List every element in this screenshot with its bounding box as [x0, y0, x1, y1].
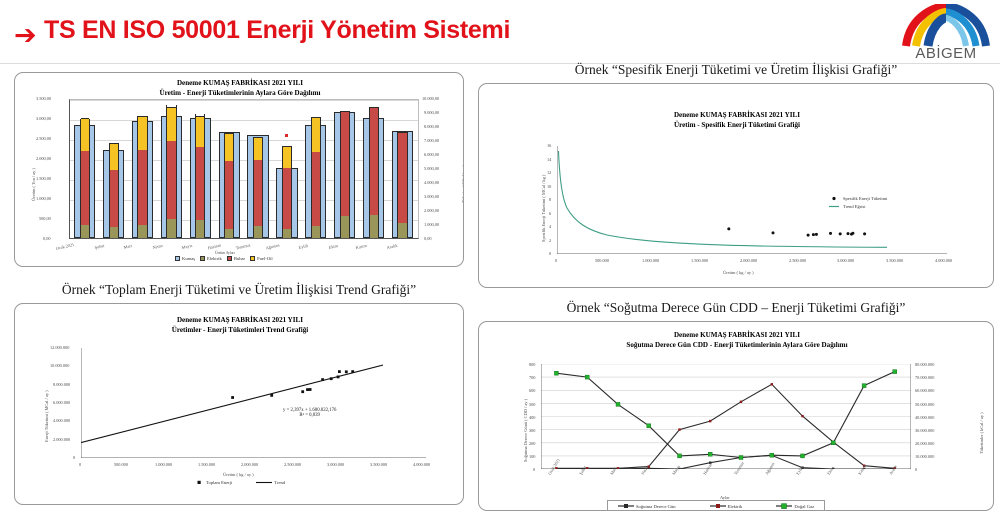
seg-elektrik — [254, 226, 262, 238]
seg-fueloil — [254, 137, 262, 160]
x-tick: Temmuz — [235, 242, 251, 250]
abigem-arch-icon — [900, 4, 992, 48]
y-tick: 8 — [549, 197, 551, 202]
y-tick: 500,00 — [39, 216, 51, 221]
seg-buhar — [110, 170, 118, 227]
seg-buhar — [370, 107, 378, 216]
y-tick: 0,00 — [43, 236, 51, 241]
chart3-title: Deneme KUMAŞ FABRİKASI 2021 YILI — [15, 316, 464, 326]
bar-energy-stack — [80, 119, 90, 238]
seg-fueloil — [283, 146, 291, 168]
y-tick: 3.000,00 — [36, 116, 51, 121]
y2-tick: 0 — [915, 467, 917, 472]
y-tick: 12.000.000 — [50, 345, 69, 350]
legend-label: Trend — [274, 480, 285, 485]
chart1-title-block: Deneme KUMAŞ FABRİKASI 2021 YILI Üretim … — [15, 79, 464, 98]
legend-label: Soğutma Derece Gün — [636, 504, 676, 509]
y-tick: 1.000,00 — [36, 196, 51, 201]
x-tick: 500.000 — [595, 258, 609, 263]
seg-buhar — [196, 147, 204, 221]
slide-header: ➔ TS EN ISO 50001 Enerji Yönetim Sistemi… — [0, 0, 1000, 64]
y-tick: 3.500,00 — [36, 96, 51, 101]
seg-elektrik — [312, 226, 320, 238]
y-tick: 6.000.000 — [53, 400, 70, 405]
legend-item-elektrik[interactable]: Elektrik — [710, 503, 743, 509]
bar-group[interactable] — [103, 98, 124, 238]
x-tick: Ağustos — [265, 242, 280, 250]
seg-buhar — [283, 168, 291, 229]
y-tick: 400 — [529, 415, 535, 420]
logo-wordmark: ABİGEM — [900, 45, 992, 62]
bar-energy-stack — [166, 105, 176, 238]
x-tick: 1.000.000 — [155, 462, 172, 467]
chart4-title-block: Deneme KUMAŞ FABRİKASI 2021 YILI Soğutma… — [479, 331, 994, 350]
seg-elektrik — [110, 227, 118, 238]
legend-label: Buhar — [234, 256, 245, 261]
chart3-title-block: Deneme KUMAŞ FABRİKASI 2021 YILI Üretiml… — [15, 316, 464, 335]
y-tick: 6 — [549, 211, 551, 216]
chart1-subtitle: Üretim - Enerji Tüketimlerinin Aylara Gö… — [15, 89, 464, 99]
seg-fueloil — [167, 107, 175, 141]
y2-tick: 9.000,00 — [424, 110, 439, 115]
trend-r2: R² = 0,839 — [283, 413, 336, 418]
series-line-cdd — [556, 455, 894, 469]
chart-total-energy-trend[interactable]: Deneme KUMAŞ FABRİKASI 2021 YILI Üretiml… — [14, 303, 464, 505]
legend-label: Doğal Gaz — [794, 504, 814, 509]
y-tick: 100 — [529, 454, 535, 459]
bar-energy-stack — [109, 143, 119, 238]
panel-chart3: Örnek “Toplam Enerji Tüketimi ve Üretim … — [14, 282, 464, 505]
y-tick: 800 — [529, 362, 535, 367]
legend-label: Elektrik — [207, 256, 222, 261]
seg-elektrik — [398, 223, 406, 238]
seg-elektrik — [167, 219, 175, 239]
legend-line-marker-icon — [776, 503, 792, 509]
bar-group[interactable] — [219, 98, 240, 238]
y-tick: 1.500,00 — [36, 176, 51, 181]
y2-tick: 70.000.000 — [915, 375, 934, 380]
chart3-annotation: y = 2,397x + 1.680.822,176 R² = 0,839 — [283, 408, 336, 418]
bar-energy-stack — [224, 133, 234, 238]
chart1-y-axis-title: Üretim ( Ton / ay ) — [31, 168, 36, 201]
bar-group[interactable] — [161, 98, 182, 238]
y2-tick: 5.000,00 — [424, 166, 439, 171]
y-tick: 2.000.000 — [53, 437, 70, 442]
y-tick: 0 — [73, 455, 75, 460]
seg-buhar — [167, 141, 175, 218]
outlier-marker — [285, 134, 288, 137]
chart1-y2-axis-title: Tüketim ( GCal / ay ) — [461, 165, 464, 203]
x-tick: 0 — [555, 258, 557, 263]
x-tick: 4.000.000 — [413, 462, 430, 467]
seg-elektrik — [283, 229, 291, 239]
chart4-plot-area — [541, 364, 911, 469]
chart3-y-axis-title: Enerji Tüketimi ( MCal / ay ) — [44, 390, 49, 442]
x-tick: 4.000.000 — [935, 258, 952, 263]
chart2-caption: Örnek “Spesifik Enerji Tüketimi ve Üreti… — [478, 62, 994, 78]
y2-tick: 10.000.000 — [915, 454, 934, 459]
x-tick: 1.500.000 — [691, 258, 708, 263]
seg-buhar — [398, 132, 406, 223]
bar-group[interactable] — [190, 98, 211, 238]
chart2-y-axis-title: Spesifik Enerji Tüketimi ( MCal / kg ) — [541, 175, 546, 242]
y2-tick: 50.000.000 — [915, 402, 934, 407]
chart1-legend: Kumaş Elektrik Buhar Fuel-Oil — [175, 256, 273, 261]
y-tick: 12 — [547, 170, 551, 175]
seg-buhar — [81, 151, 89, 225]
chart2-legend: Spesifik Enerji Tüketimi Trend Eğrisi — [829, 196, 887, 209]
x-tick: Ocak 2021 — [55, 242, 74, 251]
seg-buhar — [138, 150, 146, 226]
y2-tick: 40.000.000 — [915, 415, 934, 420]
bar-energy-stack — [397, 132, 407, 238]
chart2-title: Deneme KUMAŞ FABRİKASI 2021 YILI — [479, 111, 994, 121]
bar-energy-stack — [195, 114, 205, 238]
legend-item-fueloil[interactable]: Fuel-Oil — [250, 256, 273, 261]
seg-fueloil — [196, 116, 204, 147]
y-tick: 2.500,00 — [36, 136, 51, 141]
chart4-y-axis-title: Soğutma Derece Günü ( CDD / ay ) — [523, 399, 528, 462]
series-line-dogalgaz — [556, 372, 894, 458]
y-tick: 300 — [529, 428, 535, 433]
bar-group[interactable] — [247, 98, 268, 238]
x-tick: 500.000 — [114, 462, 128, 467]
x-tick: Şubat — [94, 243, 105, 250]
x-tick: 2.000.000 — [740, 258, 757, 263]
legend-swatch-fueloil — [250, 256, 255, 261]
series-markers-dogalgaz — [554, 370, 896, 460]
x-tick: 1.500.000 — [198, 462, 215, 467]
bar-energy-stack — [369, 107, 379, 238]
x-tick: 1.000.000 — [642, 258, 659, 263]
x-tick: Mayıs — [181, 243, 193, 250]
chart4-legend: Soğutma Derece Gün Elektrik Doğal Gaz — [607, 500, 825, 511]
y2-tick: 80.000.000 — [915, 362, 934, 367]
chart4-subtitle: Soğutma Derece Gün CDD - Enerji Tüketiml… — [479, 341, 994, 351]
bar-energy-stack — [311, 117, 321, 238]
chart3-legend: Toplam Enerji Trend — [195, 480, 285, 485]
legend-swatch-elektrik — [200, 256, 205, 261]
y-tick: 2 — [549, 238, 551, 243]
chart-specific-energy-scatter[interactable]: Deneme KUMAŞ FABRİKASI 2021 YILI Üretim … — [478, 83, 994, 288]
chart-cdd-energy-line[interactable]: Deneme KUMAŞ FABRİKASI 2021 YILI Soğutma… — [478, 321, 994, 511]
x-tick: 3.000.000 — [327, 462, 344, 467]
seg-buhar — [254, 160, 262, 227]
legend-item-trend[interactable]: Trend Eğrisi — [829, 204, 887, 209]
y-tick: 10.000.000 — [50, 363, 69, 368]
y2-tick: 30.000.000 — [915, 428, 934, 433]
legend-line-icon — [256, 480, 272, 485]
panel-chart1: Deneme KUMAŞ FABRİKASI 2021 YILI Üretim … — [14, 72, 464, 267]
x-tick: Haziran — [207, 242, 221, 250]
seg-elektrik — [196, 220, 204, 238]
y-tick: 0 — [533, 467, 535, 472]
legend-label: Spesifik Enerji Tüketimi — [843, 196, 887, 201]
seg-buhar — [312, 152, 320, 226]
x-tick: Mart — [123, 243, 132, 250]
chart1-plot-area — [69, 99, 419, 239]
bar-group[interactable] — [334, 98, 355, 238]
legend-item-toplam-enerji[interactable]: Toplam Enerji — [195, 480, 232, 485]
chart2-plot-area — [557, 146, 947, 254]
chart1-title: Deneme KUMAŞ FABRİKASI 2021 YILI — [15, 79, 464, 89]
y2-tick: 7.000,00 — [424, 138, 439, 143]
x-tick: 3.000.000 — [837, 258, 854, 263]
y2-tick: 60.000.000 — [915, 388, 934, 393]
x-tick: 2.500.000 — [789, 258, 806, 263]
y2-tick: 4.000,00 — [424, 180, 439, 185]
y-tick: 2.000,00 — [36, 156, 51, 161]
seg-buhar — [341, 111, 349, 216]
x-tick: Ekim — [328, 243, 338, 250]
x-tick: Nisan — [152, 243, 163, 250]
y-tick: 600 — [529, 388, 535, 393]
chart-production-energy-bar[interactable]: Deneme KUMAŞ FABRİKASI 2021 YILI Üretim … — [14, 72, 464, 267]
legend-square-icon — [195, 480, 204, 485]
x-tick: 3.500.000 — [370, 462, 387, 467]
bar-group[interactable] — [132, 98, 153, 238]
y2-tick: 3.000,00 — [424, 194, 439, 199]
legend-line-icon — [829, 204, 839, 209]
chart2-x-axis-title: Üretim ( kg / ay ) — [723, 270, 754, 275]
chart4-caption: Örnek “Soğutma Derece Gün CDD – Enerji T… — [478, 300, 994, 316]
legend-label: Kumaş — [182, 256, 195, 261]
chart2-points — [727, 227, 866, 236]
legend-swatch-buhar — [227, 256, 232, 261]
bar-group[interactable] — [392, 98, 413, 238]
seg-fueloil — [110, 143, 118, 170]
y2-tick: 10.000,00 — [422, 96, 439, 101]
chart4-y2-axis-title: Tüketimler ( kCal / ay ) — [979, 412, 984, 454]
chart4-title: Deneme KUMAŞ FABRİKASI 2021 YILI — [479, 331, 994, 341]
y-tick: 200 — [529, 441, 535, 446]
bar-group[interactable] — [363, 98, 384, 238]
abigem-logo: ABİGEM — [900, 4, 992, 62]
bar-group[interactable] — [74, 98, 95, 238]
bar-group[interactable] — [276, 98, 297, 238]
legend-dot-icon — [829, 196, 839, 201]
y2-tick: 6.000,00 — [424, 152, 439, 157]
y-tick: 500 — [529, 402, 535, 407]
chart3-subtitle: Üretimler - Enerji Tüketimleri Trend Gra… — [15, 326, 464, 336]
panel-chart2: Örnek “Spesifik Enerji Tüketimi ve Üreti… — [478, 62, 994, 288]
seg-buhar — [225, 161, 233, 228]
y2-tick: 2.000,00 — [424, 208, 439, 213]
seg-elektrik — [225, 229, 233, 239]
x-tick: 3.500.000 — [886, 258, 903, 263]
bar-energy-stack — [282, 146, 292, 238]
seg-elektrik — [138, 225, 146, 238]
y2-tick: 0,00 — [424, 236, 432, 241]
legend-label: Fuel-Oil — [257, 256, 273, 261]
legend-swatch-kumas — [175, 256, 180, 261]
chart2-subtitle: Üretim - Spesifik Enerji Tüketimi Grafiğ… — [479, 121, 994, 131]
bar-group[interactable] — [305, 98, 326, 238]
legend-line-marker-icon — [618, 503, 634, 509]
seg-elektrik — [341, 216, 349, 238]
legend-item-kumas[interactable]: Kumaş — [175, 256, 195, 261]
page-title: TS EN ISO 50001 Enerji Yönetim Sistemi — [44, 16, 510, 45]
y-tick: 4 — [549, 224, 551, 229]
chart1-x-axis-title: Üretim Ayları — [215, 251, 235, 255]
legend-item-trend[interactable]: Trend — [256, 480, 285, 485]
chart3-plot-area — [81, 348, 426, 458]
legend-label: Toplam Enerji — [206, 480, 232, 485]
panel-chart4: Örnek “Soğutma Derece Gün CDD – Enerji T… — [478, 300, 994, 511]
legend-label: Elektrik — [728, 504, 743, 509]
seg-fueloil — [312, 117, 320, 152]
legend-line-marker-icon — [710, 503, 726, 509]
x-tick: 0 — [79, 462, 81, 467]
seg-elektrik — [81, 225, 89, 238]
legend-item-elektrik[interactable]: Elektrik — [200, 256, 222, 261]
seg-fueloil — [225, 133, 233, 162]
y-tick: 14 — [547, 157, 551, 162]
bar-energy-stack — [253, 137, 263, 238]
y2-tick: 1.000,00 — [424, 222, 439, 227]
legend-item-spesifik[interactable]: Spesifik Enerji Tüketimi — [829, 196, 887, 201]
seg-elektrik — [370, 215, 378, 238]
seg-fueloil — [138, 116, 146, 150]
y-tick: 0 — [549, 251, 551, 256]
y-tick: 10 — [547, 184, 551, 189]
chart3-x-axis-title: Üretim ( kg / ay ) — [223, 472, 254, 477]
y-tick: 700 — [529, 375, 535, 380]
y-tick: 8.000.000 — [53, 382, 70, 387]
seg-fueloil — [81, 118, 89, 151]
legend-label: Trend Eğrisi — [843, 204, 865, 209]
x-tick: Aralık — [386, 243, 398, 250]
bar-energy-stack — [340, 111, 350, 238]
chart2-title-block: Deneme KUMAŞ FABRİKASI 2021 YILI Üretim … — [479, 111, 994, 130]
y2-tick: 8.000,00 — [424, 124, 439, 129]
x-tick: Eylül — [298, 243, 308, 250]
x-tick: 2.500.000 — [284, 462, 301, 467]
x-tick: Kasım — [355, 243, 367, 250]
chart3-points — [231, 370, 354, 399]
legend-item-sogutma-derece-gun[interactable]: Soğutma Derece Gün — [618, 503, 676, 509]
chart3-caption: Örnek “Toplam Enerji Tüketimi ve Üretim … — [14, 282, 464, 298]
x-tick: 2.000.000 — [241, 462, 258, 467]
legend-item-dogal-gaz[interactable]: Doğal Gaz — [776, 503, 814, 509]
bar-energy-stack — [137, 116, 147, 238]
legend-item-buhar[interactable]: Buhar — [227, 256, 245, 261]
y-tick: 16 — [547, 143, 551, 148]
y2-tick: 20.000.000 — [915, 441, 934, 446]
y-tick: 4.000.000 — [53, 418, 70, 423]
arrow-right-icon: ➔ — [14, 22, 37, 49]
